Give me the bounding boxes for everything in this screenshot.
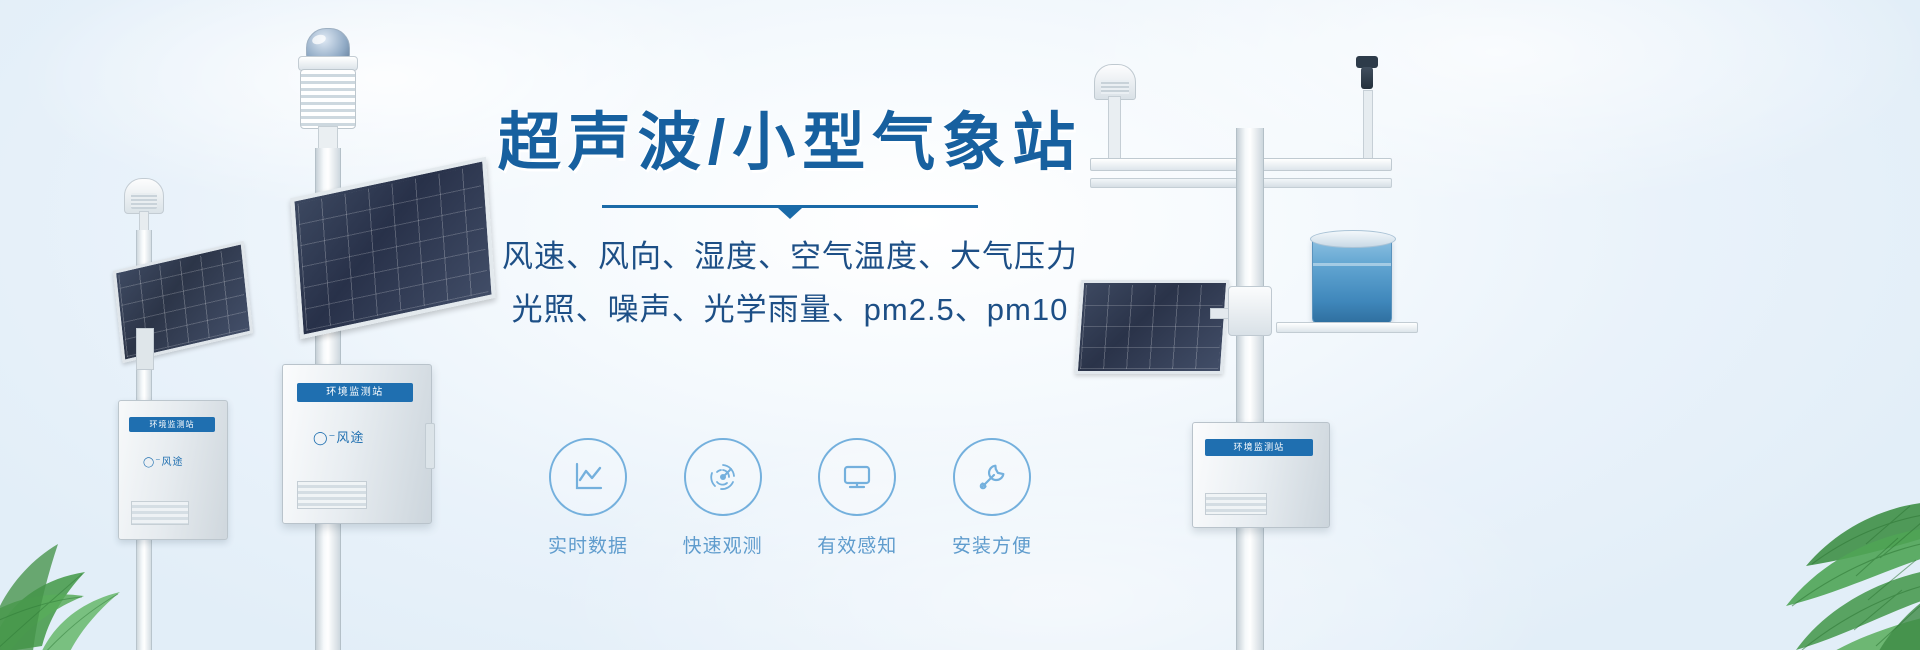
tropical-leaf-right-icon <box>1630 410 1920 650</box>
cabinet-vent <box>297 481 367 509</box>
feature-item-fast-observation[interactable]: 快速观测 <box>675 438 771 558</box>
feature-icon-circle <box>684 438 762 516</box>
panel-mount-arm <box>136 328 154 370</box>
wind-vane-stem <box>1363 90 1373 162</box>
feature-label: 安装方便 <box>944 531 1040 558</box>
divider-triangle-icon <box>778 208 802 219</box>
feature-list: 实时数据 快速观测 <box>540 438 1040 558</box>
title-divider <box>602 205 978 217</box>
rain-gauge-rim <box>1310 230 1396 248</box>
feature-icon-circle <box>818 438 896 516</box>
rain-gauge-mount-shelf <box>1276 322 1418 333</box>
feature-icon-circle <box>549 438 627 516</box>
wind-vane-body <box>1361 67 1373 89</box>
station-mast <box>1236 128 1264 650</box>
equipment-cabinet: 环境监测站 <box>1192 422 1330 528</box>
monitor-display-icon <box>836 456 878 498</box>
wrench-tool-icon <box>971 456 1013 498</box>
cabinet-label-text: 环境监测站 <box>297 383 413 402</box>
banner-text-block: 超声波/小型气象站 风速、风向、湿度、空气温度、大气压力 光照、噪声、光学雨量、… <box>440 112 1140 335</box>
radiation-shield-sensor-icon <box>300 69 356 129</box>
cabinet-label-text: 环境监测站 <box>129 417 215 432</box>
cabinet-vent <box>1205 493 1267 515</box>
tropical-leaf-left-icon <box>0 440 210 650</box>
brand-mark-icon: ◯⁻ <box>313 430 336 445</box>
cabinet-label-plate: 环境监测站 <box>129 417 215 432</box>
subtitle-line-2: 光照、噪声、光学雨量、pm2.5、pm10 <box>440 286 1140 335</box>
rain-gauge-icon <box>1312 236 1392 324</box>
feature-icon-circle <box>953 438 1031 516</box>
subtitle-line-1: 风速、风向、湿度、空气温度、大气压力 <box>440 233 1140 282</box>
product-banner: 环境监测站 ◯⁻风途 环境监测站 ◯⁻风途 <box>0 0 1920 650</box>
page-title: 超声波/小型气象站 <box>440 112 1140 175</box>
ultrasonic-wind-sensor-icon <box>1094 64 1136 100</box>
mast-junction-hub <box>1228 286 1272 336</box>
cabinet-label-plate: 环境监测站 <box>1205 439 1313 456</box>
radiation-shield-sensor-icon <box>124 178 164 214</box>
feature-label: 实时数据 <box>540 531 636 558</box>
feature-item-realtime-data[interactable]: 实时数据 <box>540 438 636 558</box>
solar-panel <box>113 241 253 363</box>
feature-item-easy-install[interactable]: 安装方便 <box>944 438 1040 558</box>
brand-logo: ◯⁻风途 <box>313 427 364 446</box>
cabinet-label-text: 环境监测站 <box>1205 439 1313 456</box>
equipment-cabinet: 环境监测站 ◯⁻风途 <box>282 364 432 524</box>
rain-gauge-stripe <box>1313 263 1391 266</box>
brand-name-text: 风途 <box>336 430 364 445</box>
cabinet-label-plate: 环境监测站 <box>297 383 413 402</box>
cabinet-hinge <box>425 423 435 469</box>
line-chart-icon <box>567 456 609 498</box>
wind-vane-sensor-icon <box>1352 56 1382 92</box>
feature-item-effective-sensing[interactable]: 有效感知 <box>809 438 905 558</box>
feature-label: 快速观测 <box>675 531 771 558</box>
feature-label: 有效感知 <box>809 531 905 558</box>
radar-observation-icon <box>702 456 744 498</box>
